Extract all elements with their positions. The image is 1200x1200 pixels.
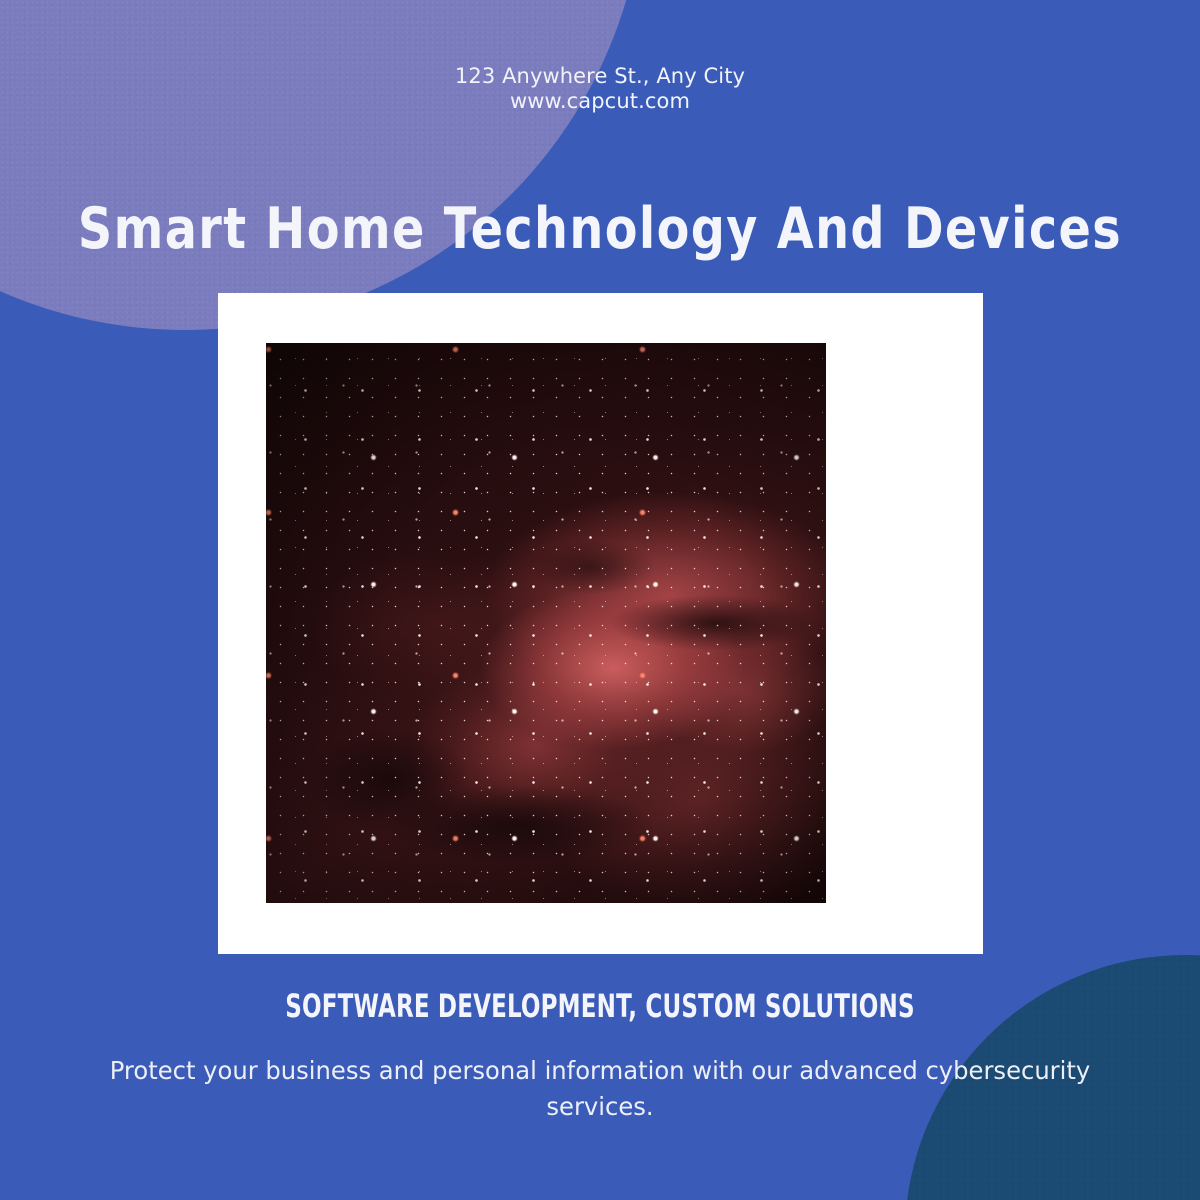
image-vignette bbox=[266, 343, 826, 903]
photo-frame bbox=[218, 293, 983, 954]
header-website: www.capcut.com bbox=[0, 89, 1200, 114]
footer-body-text: Protect your business and personal infor… bbox=[103, 1053, 1096, 1125]
header-address: 123 Anywhere St., Any City bbox=[0, 64, 1200, 89]
poster-canvas: 123 Anywhere St., Any City www.capcut.co… bbox=[0, 0, 1200, 1200]
decorative-circle-lavender bbox=[0, 0, 645, 330]
footer-subheading: SOFTWARE DEVELOPMENT, CUSTOM SOLUTIONS bbox=[120, 986, 1080, 1026]
header-contact-block: 123 Anywhere St., Any City www.capcut.co… bbox=[0, 64, 1200, 114]
page-title: Smart Home Technology And Devices bbox=[42, 192, 1158, 266]
nebula-image bbox=[266, 343, 826, 903]
